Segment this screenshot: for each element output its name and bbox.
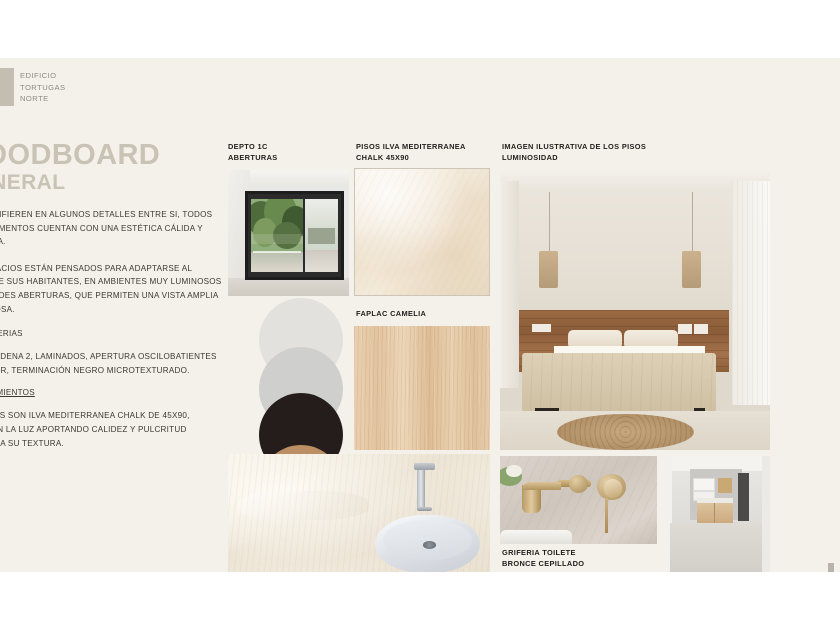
window-floor	[228, 278, 349, 296]
photo-revestimientos-banos	[228, 454, 490, 572]
brand-accent-bar	[0, 68, 14, 106]
page-subtitle: GENERAL	[0, 171, 222, 195]
section-heading-carpinterias: CARPINTERIAS	[0, 329, 222, 338]
section-heading-revestimientos: REVESTIMIENTOS	[0, 388, 222, 397]
heading-imagen-ilustrativa: IMAGEN ILUSTRATIVA DE LOS PISOS LUMINOSI…	[502, 142, 646, 163]
heading-faplac-camelia: FAPLAC CAMELIA	[356, 309, 426, 320]
brand-name: EDIFICIO TORTUGAS NORTE	[20, 68, 66, 105]
window-pane-left	[251, 199, 303, 273]
swatch-ilva-mediterranea-chalk	[354, 168, 490, 296]
photo-griferia-bronce	[500, 456, 657, 544]
swatch-faplac-camelia	[354, 326, 490, 450]
brand-line-1: EDIFICIO	[20, 70, 66, 82]
paragraph-intro: SI BIEN DIFIEREN EN ALGUNOS DETALLES ENT…	[0, 208, 222, 249]
document-page: EDIFICIO TORTUGAS NORTE MOODBOARD GENERA…	[0, 58, 840, 572]
window-pane-right	[305, 199, 339, 273]
brand-block: EDIFICIO TORTUGAS NORTE	[0, 68, 66, 106]
window-black-frame	[245, 191, 344, 279]
photo-dormitorio-luminosidad	[500, 170, 770, 450]
paragraph-spaces: LOS ESPACIOS ESTÁN PENSADOS PARA ADAPTAR…	[0, 262, 222, 316]
brand-line-3: NORTE	[20, 93, 66, 105]
page-title: MOODBOARD	[0, 140, 222, 171]
caption-griferia: GRIFERIA TOILETE BRONCE CEPILLADO	[502, 548, 584, 569]
photo-depto-1c-aberturas	[228, 170, 349, 296]
heading-pisos-ilva: PISOS ILVA MEDITERRANEA CHALK 45X90	[356, 142, 466, 163]
heading-depto-1c: DEPTO 1C ABERTURAS	[228, 142, 278, 163]
paragraph-revestimientos: LOS PISOS SON ILVA MEDITERRANEA CHALK DE…	[0, 409, 222, 450]
paragraph-carpinterias: LINEA MODENA 2, LAMINADOS, APERTURA OSCI…	[0, 350, 222, 377]
editorial-column: MOODBOARD GENERAL SI BIEN DIFIEREN EN AL…	[0, 140, 222, 463]
page-edge-marker	[828, 563, 834, 572]
photo-depto-2e	[662, 456, 770, 572]
brand-line-2: TORTUGAS	[20, 82, 66, 94]
